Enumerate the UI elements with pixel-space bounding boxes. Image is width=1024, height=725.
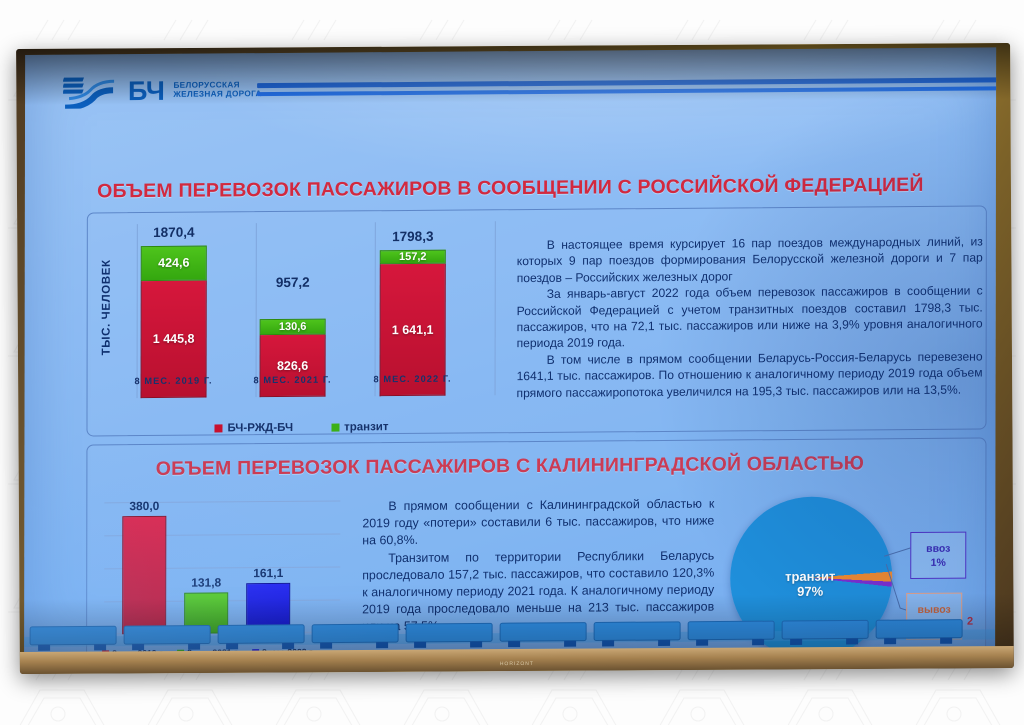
- chart1-y-axis-label: ТЫС. ЧЕЛОВЕК: [101, 220, 113, 394]
- bar-category-2019: 8 МЕС. 2019 Г.: [108, 375, 240, 386]
- bar-segment-transit-2021: 130,6: [260, 319, 326, 336]
- chart1-axis-line-left: [137, 224, 138, 398]
- photograph-of-presentation-screen: БЧ БЕЛОРУССКАЯ ЖЕЛЕЗНАЯ ДОРОГА ОБЪЕМ ПЕР…: [0, 0, 1024, 725]
- brand-line-2: ЖЕЛЕЗНАЯ ДОРОГА: [173, 90, 261, 99]
- legend-label-transit: транзит: [344, 421, 388, 433]
- text1-paragraph-1: В настоящее время курсирует 16 пар поезд…: [517, 233, 983, 286]
- bar-group-2019: 1870,4 424,6 1 445,8 8 МЕС. 2019 Г.: [141, 246, 207, 399]
- header-stripe-2: [257, 86, 996, 96]
- pie-transit-name: транзит: [754, 568, 866, 584]
- bar-value-2019: 380,0: [100, 499, 188, 514]
- description-text-kaliningrad: В прямом сообщении с Калининградской обл…: [362, 496, 714, 636]
- chart2-plot-area: 380,0 131,8 161,1: [104, 501, 340, 635]
- chart1-divider-1: [255, 223, 256, 397]
- legend-item-transit: транзит: [331, 421, 388, 433]
- pie-transit-value: 97%: [754, 583, 866, 599]
- bar-kaliningrad-2019: 380,0: [122, 516, 166, 634]
- pie-vvoz-name: ввоз: [926, 541, 950, 555]
- header-stripes: [257, 77, 996, 96]
- brand-abbreviation: БЧ: [128, 77, 164, 104]
- bch-railway-logo-icon: [63, 74, 121, 108]
- description-text-russia: В настоящее время курсирует 16 пар поезд…: [517, 233, 983, 401]
- chart1-divider-2: [374, 222, 375, 396]
- bar-group-2021: 957,2 130,6 826,6 8 МЕС. 2021 Г.: [260, 319, 326, 398]
- legend-label-bchrzd: БЧ-РЖД-БЧ: [227, 422, 293, 435]
- pie-vvoz-value: 1%: [931, 555, 946, 569]
- bar-total-2022: 1798,3: [347, 228, 479, 244]
- bar-total-2019: 1870,4: [108, 224, 240, 240]
- table-edge: [20, 646, 1014, 674]
- bar-total-2021: 957,2: [227, 274, 359, 290]
- bar-segment-transit-2022: 157,2: [380, 250, 446, 265]
- bar-category-2022: 8 МЕС. 2022 Г.: [347, 373, 479, 384]
- chart1-axis-line-right: [495, 221, 496, 395]
- stacked-bar-chart-russia: ТЫС. ЧЕЛОВЕК 1870,4 424,6 1 445,8 8 МЕС.…: [94, 217, 502, 432]
- legend-item-bchrzd: БЧ-РЖД-БЧ: [214, 422, 293, 435]
- chart1-legend: БЧ-РЖД-БЧ транзит: [214, 421, 388, 434]
- bar-segment-transit-2019: 424,6: [141, 246, 207, 281]
- brand-fullname: БЕЛОРУССКАЯ ЖЕЛЕЗНАЯ ДОРОГА: [173, 82, 261, 100]
- bar-group-2022: 1798,3 157,2 1 641,1 8 МЕС. 2022 Г.: [380, 250, 446, 397]
- bar-value-2022: 161,1: [224, 566, 312, 581]
- brand-logo: БЧ БЕЛОРУССКАЯ ЖЕЛЕЗНАЯ ДОРОГА: [63, 73, 262, 109]
- text1-paragraph-2: За январь-август 2022 года объем перевоз…: [517, 283, 983, 352]
- bar-fill-2019: [122, 516, 166, 634]
- text1-paragraph-3: В том числе в прямом сообщении Беларусь-…: [517, 348, 983, 401]
- tv-brand-logo: HORIZONT: [500, 661, 534, 667]
- bar-segment-bchrzd-2021: 826,6: [260, 335, 326, 398]
- legend-swatch-green-icon: [331, 424, 339, 432]
- text2-paragraph-1: В прямом сообщении с Калининградской обл…: [362, 496, 714, 550]
- section-title-russia: ОБЪЕМ ПЕРЕВОЗОК ПАССАЖИРОВ В СООБЩЕНИИ С…: [25, 173, 996, 204]
- bar-category-2021: 8 МЕС. 2021 Г.: [227, 374, 359, 385]
- presentation-slide: БЧ БЕЛОРУССКАЯ ЖЕЛЕЗНАЯ ДОРОГА ОБЪЕМ ПЕР…: [24, 47, 996, 655]
- pie-callout-vvoz: ввоз 1%: [910, 532, 966, 579]
- pie-slice-label-transit: транзит 97%: [754, 568, 866, 599]
- tv-bezel: БЧ БЕЛОРУССКАЯ ЖЕЛЕЗНАЯ ДОРОГА ОБЪЕМ ПЕР…: [16, 43, 1014, 674]
- legend-swatch-red-icon: [214, 424, 222, 432]
